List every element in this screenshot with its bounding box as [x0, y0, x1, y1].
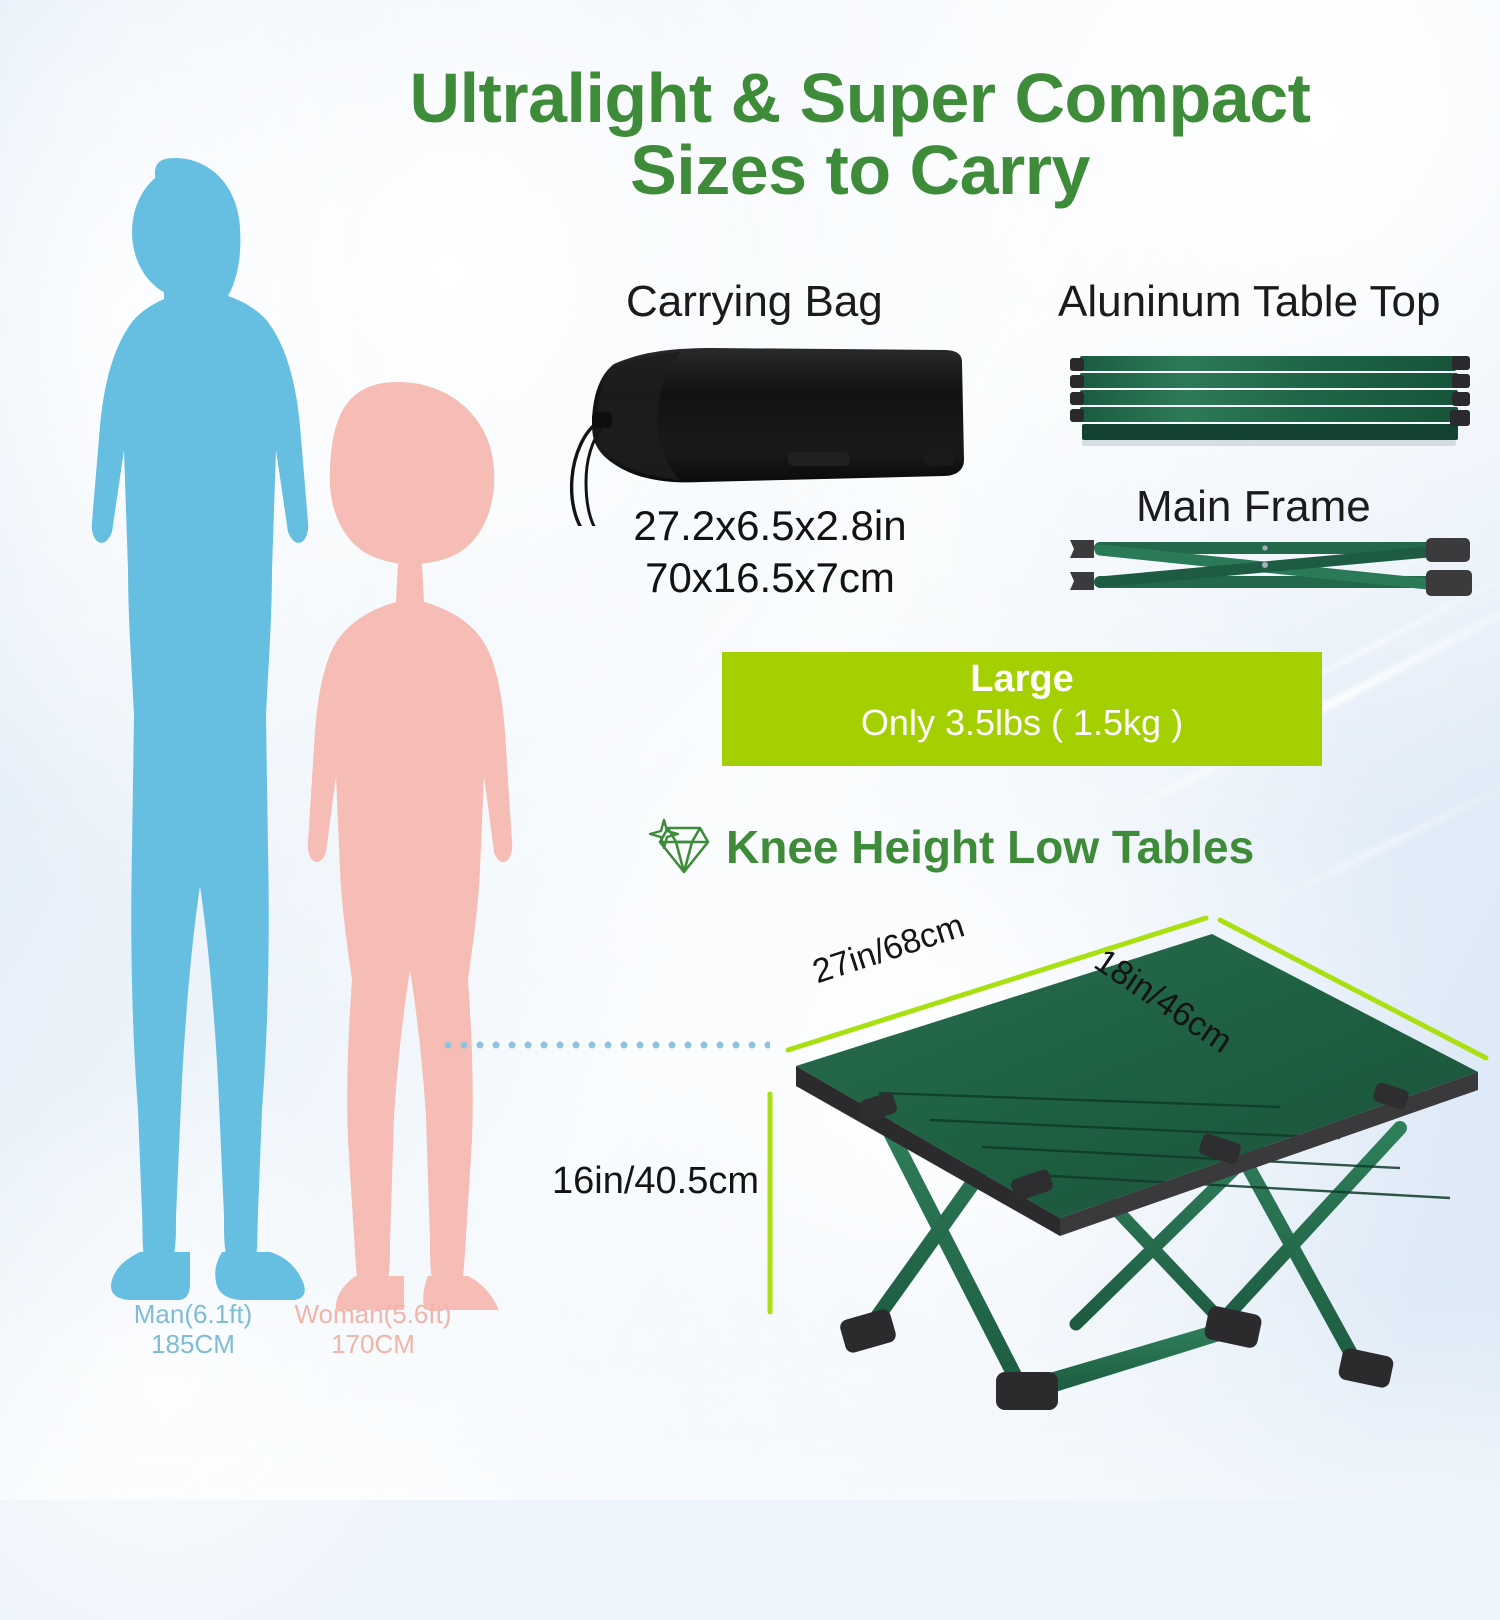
human-scale-illustration [0, 150, 520, 1310]
page-title-line-1: Ultralight & Super Compact [240, 62, 1480, 134]
man-silhouette [92, 158, 308, 1300]
bag-cordlock [592, 412, 612, 428]
carrying-bag-image [552, 336, 972, 526]
bag-tab [924, 450, 954, 466]
carrying-bag-dimensions: 27.2x6.5x2.8in 70x16.5x7cm [560, 500, 980, 604]
banner-size-label: Large [722, 656, 1322, 702]
aluminum-table-top-image [1066, 352, 1476, 452]
frame-pivot [1262, 562, 1268, 568]
banner-weight-label: Only 3.5lbs ( 1.5kg ) [722, 702, 1322, 744]
carrying-bag-heading: Carrying Bag [626, 277, 883, 327]
frame-pivot [1262, 545, 1267, 550]
table-height-label: 16in/40.5cm [552, 1160, 759, 1203]
knee-height-guide-line [440, 1040, 770, 1050]
knee-height-text: Knee Height Low Tables [726, 820, 1254, 874]
silhouettes-svg [0, 150, 520, 1310]
woman-label: Woman(5.6ft) 170CM [248, 1300, 498, 1360]
table-top-svg [1066, 352, 1476, 452]
weight-banner: Large Only 3.5lbs ( 1.5kg ) [722, 652, 1322, 766]
woman-label-height-cm: 170CM [248, 1330, 498, 1360]
carrying-bag-dimensions-inches: 27.2x6.5x2.8in [560, 500, 980, 552]
carrying-bag-svg [552, 336, 972, 526]
woman-label-height-ft: Woman(5.6ft) [248, 1300, 498, 1330]
woman-silhouette [308, 382, 512, 1310]
carrying-bag-dimensions-cm: 70x16.5x7cm [560, 552, 980, 604]
main-frame-svg [1060, 532, 1480, 618]
knee-height-feature: Knee Height Low Tables [648, 812, 1254, 882]
main-frame-image [1060, 532, 1480, 618]
table-top-slat-stack [1080, 356, 1458, 440]
main-frame-heading: Main Frame [1136, 482, 1371, 532]
diamond-icon [648, 816, 712, 878]
bag-tab [788, 452, 850, 466]
table-top-shadow [1082, 440, 1456, 446]
table-top-heading: Aluninum Table Top [1058, 277, 1440, 327]
